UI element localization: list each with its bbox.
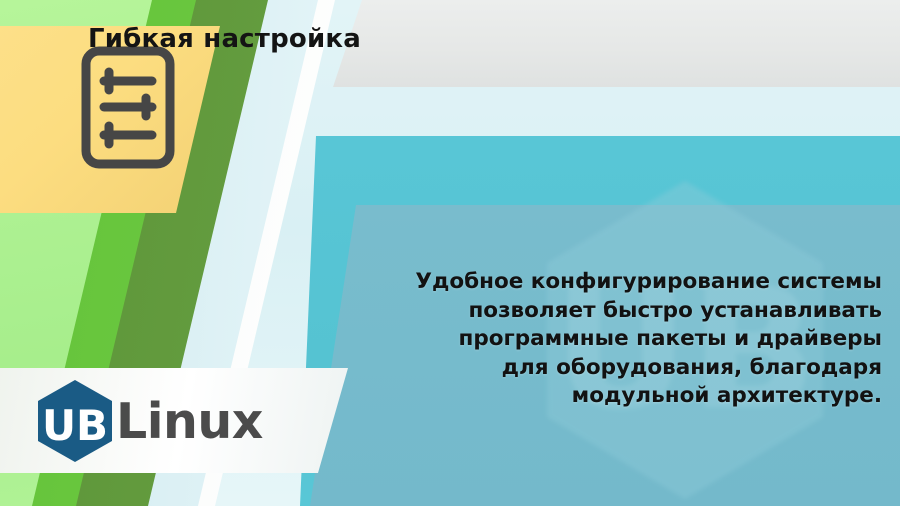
slide-canvas: UB Гибкая настройка Удобное конфигуриров… — [0, 0, 900, 506]
logo-mark-text: UB — [42, 401, 108, 450]
page-title: Гибкая настройка — [88, 24, 361, 54]
body-paragraph: Удобное конфигурирование системы позволя… — [412, 268, 882, 411]
settings-sliders-icon — [80, 45, 176, 170]
title-bar — [333, 0, 900, 87]
brand-logo: UB Linux — [32, 378, 263, 464]
logo-wordmark: Linux — [116, 397, 263, 446]
hexagon-logo-icon: UB — [32, 378, 118, 464]
